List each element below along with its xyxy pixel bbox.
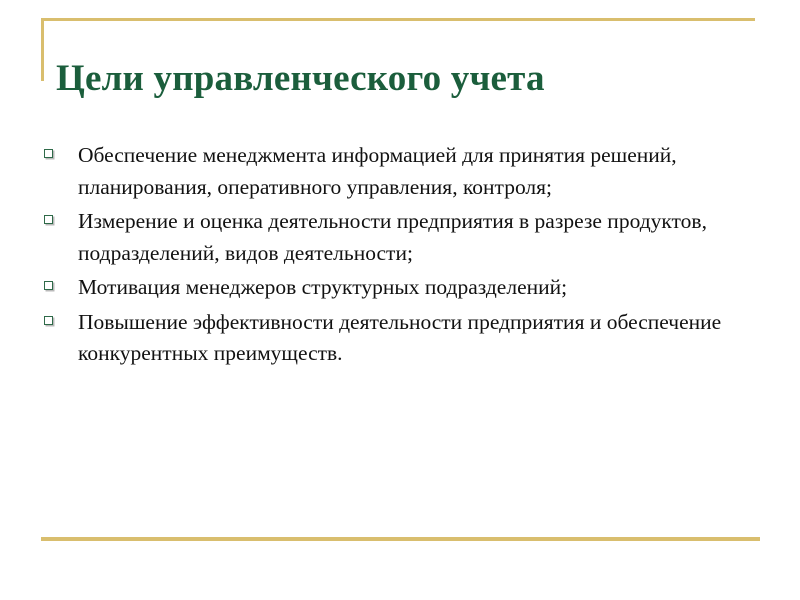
decorative-rule-bottom [41, 537, 760, 541]
list-item: Обеспечение менеджмента информацией для … [40, 140, 745, 203]
square-bullet-icon [44, 316, 53, 325]
list-item: Измерение и оценка деятельности предприя… [40, 206, 745, 269]
list-item: Мотивация менеджеров структурных подразд… [40, 272, 745, 304]
list-item-label: Мотивация менеджеров структурных подразд… [78, 272, 745, 304]
decorative-rule-top [41, 18, 755, 21]
slide-title: Цели управленческого учета [56, 57, 756, 101]
list-item: Повышение эффективности деятельности пре… [40, 307, 745, 370]
slide-bullet-list: Обеспечение менеджмента информацией для … [40, 140, 745, 373]
square-bullet-icon [44, 149, 53, 158]
square-bullet-icon [44, 215, 53, 224]
square-bullet-icon [44, 281, 53, 290]
slide-canvas: Цели управленческого учета Обеспечение м… [0, 0, 800, 600]
list-item-label: Повышение эффективности деятельности пре… [78, 307, 745, 370]
list-item-label: Измерение и оценка деятельности предприя… [78, 206, 745, 269]
decorative-rule-left [41, 18, 44, 81]
list-item-label: Обеспечение менеджмента информацией для … [78, 140, 745, 203]
